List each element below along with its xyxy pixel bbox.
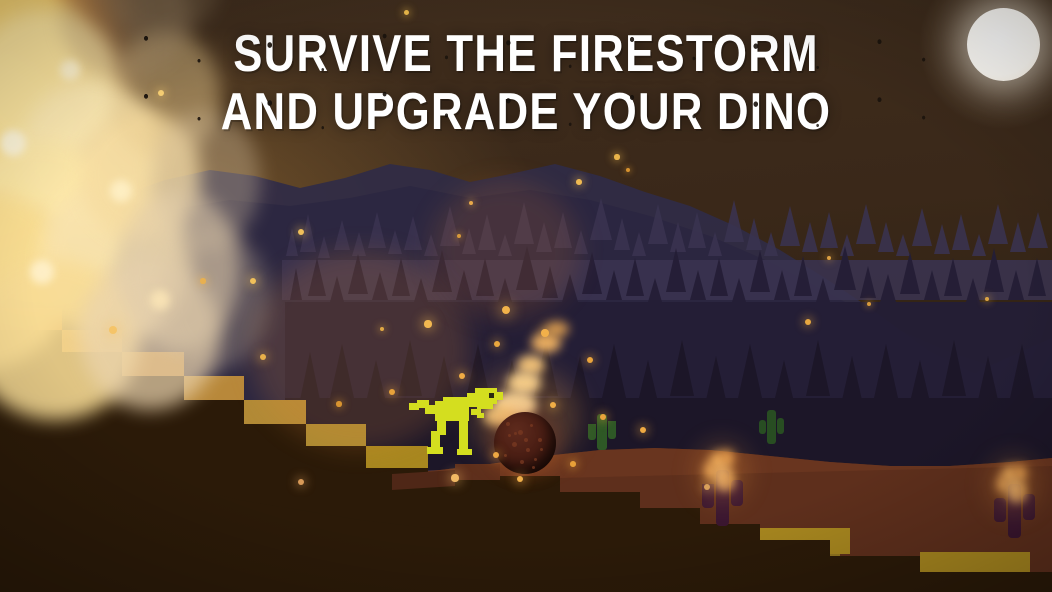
- cactus-silhouette-green-2: [759, 410, 784, 444]
- cactus-1-flame: [700, 448, 740, 498]
- cactus-2-flame: [992, 462, 1032, 510]
- game-promo-screenshot: SURVIVE THE FIRESTORM AND UPGRADE YOUR D…: [0, 0, 1052, 592]
- terrain-layers: [0, 0, 1052, 592]
- dino-character: [409, 383, 513, 459]
